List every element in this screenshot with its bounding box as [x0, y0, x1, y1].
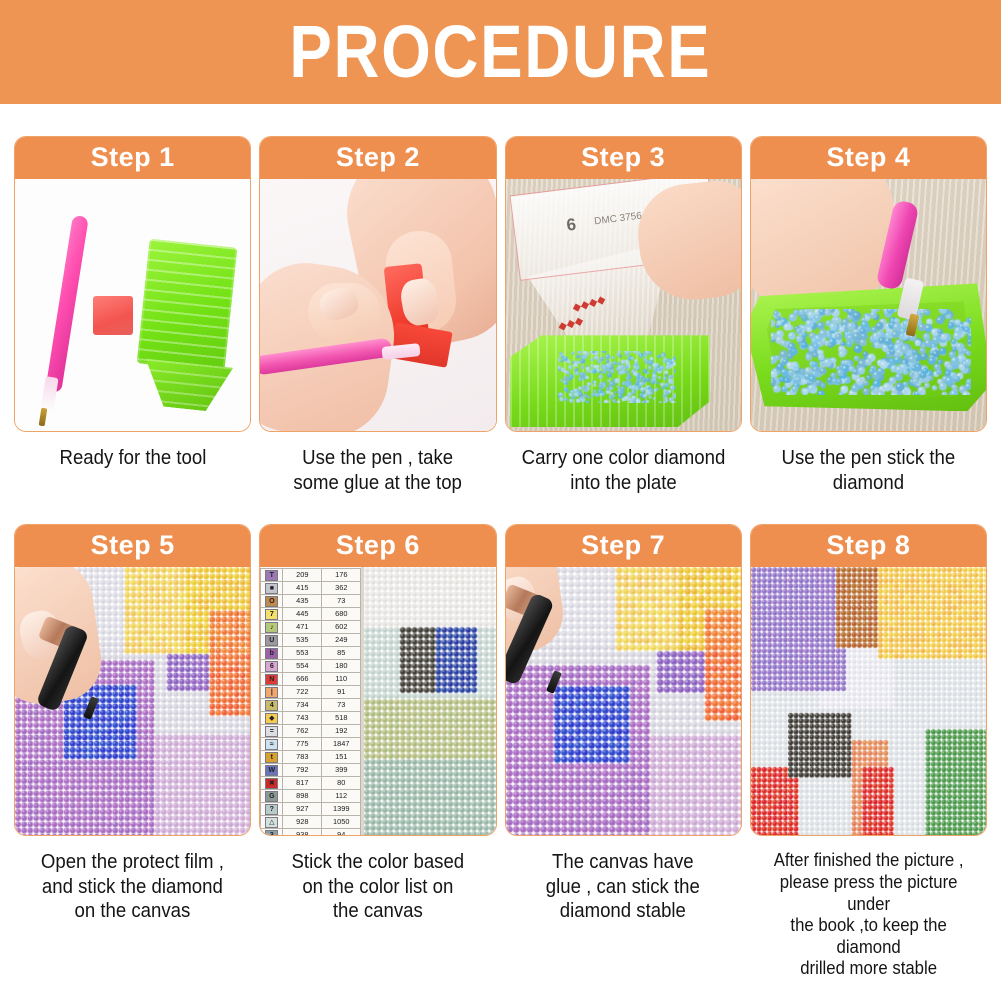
chart-count-cell: 192: [322, 725, 361, 738]
step-7-title: Step 7: [506, 525, 741, 567]
step-1-card: Step 1: [14, 136, 251, 432]
step-8-card: Step 8: [750, 524, 987, 836]
chart-dmc-cell: 762: [283, 725, 322, 738]
bag-number-label: 6: [565, 215, 577, 236]
bag-code-label: DMC 3756: [593, 211, 642, 228]
chart-symbol-cell: b: [261, 647, 283, 660]
chart-dmc-cell: 783: [283, 751, 322, 764]
chart-symbol-cell: △: [261, 816, 283, 829]
chart-count-cell: 362: [322, 582, 361, 595]
chart-symbol-cell: N: [261, 673, 283, 686]
step-6-image: T209176■415362O435737445680♪471602U53524…: [260, 567, 495, 835]
chart-dmc-cell: 734: [283, 699, 322, 712]
pen-tip-icon: [40, 377, 58, 413]
chart-dmc-cell: 666: [283, 673, 322, 686]
chart-symbol-cell: ♪: [261, 621, 283, 634]
chart-symbol-cell: ◆: [261, 712, 283, 725]
chart-symbol-cell: 6: [261, 660, 283, 673]
table-row: b55385: [261, 647, 361, 660]
step-4-card: Step 4: [750, 136, 987, 432]
step-5-title: Step 5: [15, 525, 250, 567]
table-row: T209176: [261, 569, 361, 582]
step-7-caption: The canvas have glue , can stick the dia…: [546, 850, 700, 923]
glue-square-icon: [93, 296, 133, 335]
step-7-card: Step 7: [505, 524, 742, 836]
pour-diamonds-photo: 6 DMC 3756 ◆◆◆◆ ◆◆◆: [506, 179, 741, 431]
chart-count-cell: 151: [322, 751, 361, 764]
step-4-image: [751, 179, 986, 431]
step-card-3: Step 3 6 DMC 3756 ◆◆◆◆ ◆◆◆: [505, 136, 742, 495]
step-4-title: Step 4: [751, 137, 986, 179]
chart-count-cell: 176: [322, 569, 361, 582]
table-row: |72291: [261, 686, 361, 699]
table-row: 393894: [261, 829, 361, 836]
step-2-title: Step 2: [260, 137, 495, 179]
chart-count-cell: 518: [322, 712, 361, 725]
table-row: O43573: [261, 595, 361, 608]
steps-row-2: Step 5 Open the protect film , and stick…: [0, 495, 1001, 980]
chart-count-cell: 91: [322, 686, 361, 699]
chart-symbol-cell: ✖: [261, 777, 283, 790]
table-row: 473473: [261, 699, 361, 712]
table-row: 7445680: [261, 608, 361, 621]
step-3-card: Step 3 6 DMC 3756 ◆◆◆◆ ◆◆◆: [505, 136, 742, 432]
step-2-card: Step 2: [259, 136, 496, 432]
table-row: △9281050: [261, 816, 361, 829]
chart-symbol-cell: ?: [261, 803, 283, 816]
chart-dmc-cell: 938: [283, 829, 322, 836]
step-card-4: Step 4 Use the pen stick the diamond: [750, 136, 987, 495]
step-5-caption: Open the protect film , and stick the di…: [41, 850, 224, 923]
chart-symbol-cell: T: [261, 569, 283, 582]
mosaic-canvas: [751, 567, 986, 835]
chart-count-cell: 602: [322, 621, 361, 634]
page-banner: PROCEDURE: [0, 0, 1001, 104]
chart-count-cell: 73: [322, 595, 361, 608]
table-row: ?9271399: [261, 803, 361, 816]
chart-dmc-cell: 817: [283, 777, 322, 790]
page-title: PROCEDURE: [289, 15, 711, 89]
pick-diamond-photo: [751, 179, 986, 431]
steps-row-1: Step 1 Ready for the tool Step 2: [0, 104, 1001, 495]
chart-dmc-cell: 898: [283, 790, 322, 803]
chart-symbol-cell: G: [261, 790, 283, 803]
table-row: W792399: [261, 764, 361, 777]
chart-dmc-cell: 554: [283, 660, 322, 673]
chart-dmc-cell: 209: [283, 569, 322, 582]
chart-count-cell: 80: [322, 777, 361, 790]
color-chart: T209176■415362O435737445680♪471602U53524…: [260, 567, 364, 835]
step-1-image: [15, 179, 250, 431]
table-row: ≈7751847: [261, 738, 361, 751]
chart-symbol-cell: ≈: [261, 738, 283, 751]
chart-symbol-cell: U: [261, 634, 283, 647]
table-row: 6554180: [261, 660, 361, 673]
chart-dmc-cell: 553: [283, 647, 322, 660]
chart-dmc-cell: 743: [283, 712, 322, 725]
chart-dmc-cell: 928: [283, 816, 322, 829]
chart-symbol-cell: |: [261, 686, 283, 699]
table-row: ♪471602: [261, 621, 361, 634]
green-tray-icon: [137, 239, 238, 373]
step-1-caption: Ready for the tool: [59, 446, 206, 470]
step-3-caption: Carry one color diamond into the plate: [521, 446, 725, 495]
step-8-title: Step 8: [751, 525, 986, 567]
chart-count-cell: 94: [322, 829, 361, 836]
chart-symbol-cell: t: [261, 751, 283, 764]
chart-count-cell: 85: [322, 647, 361, 660]
chart-dmc-cell: 722: [283, 686, 322, 699]
green-tray-spout-icon: [141, 359, 233, 414]
chart-count-cell: 399: [322, 764, 361, 777]
table-row: ■415362: [261, 582, 361, 595]
step-1-title: Step 1: [15, 137, 250, 179]
step-3-image: 6 DMC 3756 ◆◆◆◆ ◆◆◆: [506, 179, 741, 431]
chart-count-cell: 180: [322, 660, 361, 673]
chart-dmc-cell: 792: [283, 764, 322, 777]
chart-symbol-cell: ■: [261, 582, 283, 595]
chart-symbol-cell: 7: [261, 608, 283, 621]
chart-dmc-cell: 435: [283, 595, 322, 608]
procedure-infographic: PROCEDURE Step 1 Ready for the to: [0, 0, 1001, 1001]
step-6-title: Step 6: [260, 525, 495, 567]
chart-dmc-cell: 927: [283, 803, 322, 816]
chart-count-cell: 1847: [322, 738, 361, 751]
chart-count-cell: 1050: [322, 816, 361, 829]
glue-dipping-photo: [260, 179, 495, 431]
step-7-image: [506, 567, 741, 835]
chart-count-cell: 73: [322, 699, 361, 712]
step-2-caption: Use the pen , take some glue at the top: [294, 446, 463, 495]
chart-count-cell: 249: [322, 634, 361, 647]
step-card-5: Step 5 Open the protect film , and stick…: [14, 524, 251, 980]
table-row: t783151: [261, 751, 361, 764]
chart-count-cell: 1399: [322, 803, 361, 816]
table-row: U535249: [261, 634, 361, 647]
step-6-card: Step 6 T209176■415362O435737445680♪47160…: [259, 524, 496, 836]
table-row: G898112: [261, 790, 361, 803]
color-chart-table: T209176■415362O435737445680♪471602U53524…: [260, 568, 361, 835]
table-row: ◆743518: [261, 712, 361, 725]
chart-symbol-cell: O: [261, 595, 283, 608]
step-5-card: Step 5: [14, 524, 251, 836]
tool-photo: [15, 179, 250, 431]
step-card-7: Step 7 The canvas have glue , can stick …: [505, 524, 742, 980]
mosaic-canvas: [364, 567, 495, 835]
step-card-1: Step 1 Ready for the tool: [14, 136, 251, 495]
step-3-title: Step 3: [506, 137, 741, 179]
blue-diamonds-icon: [771, 309, 971, 395]
pen-nib-icon: [39, 408, 48, 427]
table-row: =762192: [261, 725, 361, 738]
chart-dmc-cell: 445: [283, 608, 322, 621]
chart-symbol-cell: W: [261, 764, 283, 777]
chart-symbol-cell: =: [261, 725, 283, 738]
step-card-2: Step 2 Use the pe: [259, 136, 496, 495]
chart-dmc-cell: 775: [283, 738, 322, 751]
step-2-image: [260, 179, 495, 431]
chart-count-cell: 112: [322, 790, 361, 803]
table-row: N666110: [261, 673, 361, 686]
chart-count-cell: 680: [322, 608, 361, 621]
pink-pen-icon: [45, 215, 89, 393]
chart-symbol-cell: 3: [261, 829, 283, 836]
step-6-caption: Stick the color based on the color list …: [292, 850, 465, 923]
step-8-caption: After finished the picture , please pres…: [758, 850, 979, 980]
chart-dmc-cell: 415: [283, 582, 322, 595]
table-row: ✖81780: [261, 777, 361, 790]
step-4-caption: Use the pen stick the diamond: [782, 446, 956, 495]
blue-diamonds-icon: [558, 351, 676, 403]
chart-dmc-cell: 471: [283, 621, 322, 634]
chart-dmc-cell: 535: [283, 634, 322, 647]
step-8-image: [751, 567, 986, 835]
chart-symbol-cell: 4: [261, 699, 283, 712]
chart-count-cell: 110: [322, 673, 361, 686]
step-5-image: [15, 567, 250, 835]
step-card-6: Step 6 T209176■415362O435737445680♪47160…: [259, 524, 496, 980]
step-card-8: Step 8 After finished the picture , plea…: [750, 524, 987, 980]
